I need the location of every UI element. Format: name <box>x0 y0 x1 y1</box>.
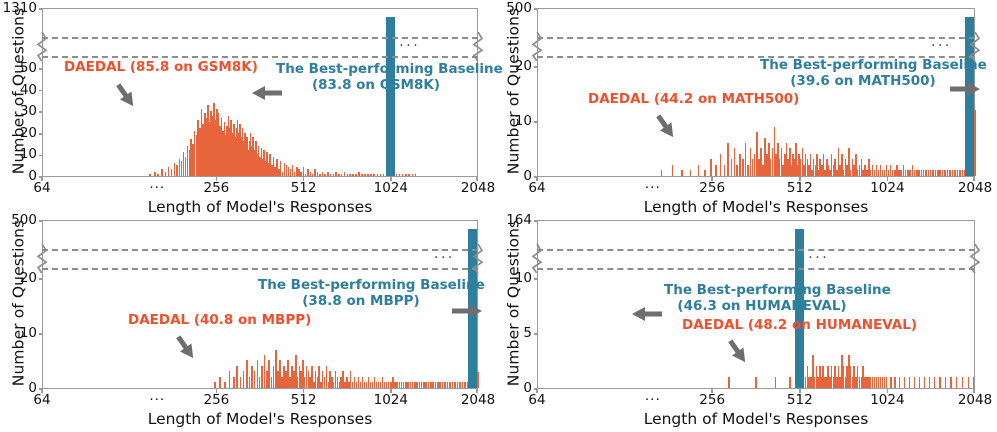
daedal-annotation: DAEDAL (48.2 on HUMANEVAL) <box>682 318 917 334</box>
baseline-arrow-icon <box>632 303 668 325</box>
daedal-arrow-icon <box>718 330 754 369</box>
baseline-annotation-line1: The Best-performing Baseline <box>664 283 860 299</box>
figure-root: ···01020304050131064···25651210242048Len… <box>0 0 997 432</box>
annotations-humaneval: DAEDAL (48.2 on HUMANEVAL)The Best-perfo… <box>0 0 997 432</box>
baseline-annotation-line2: (46.3 on HUMANEVAL) <box>664 299 860 315</box>
baseline-annotation: The Best-performing Baseline(46.3 on HUM… <box>664 283 860 315</box>
